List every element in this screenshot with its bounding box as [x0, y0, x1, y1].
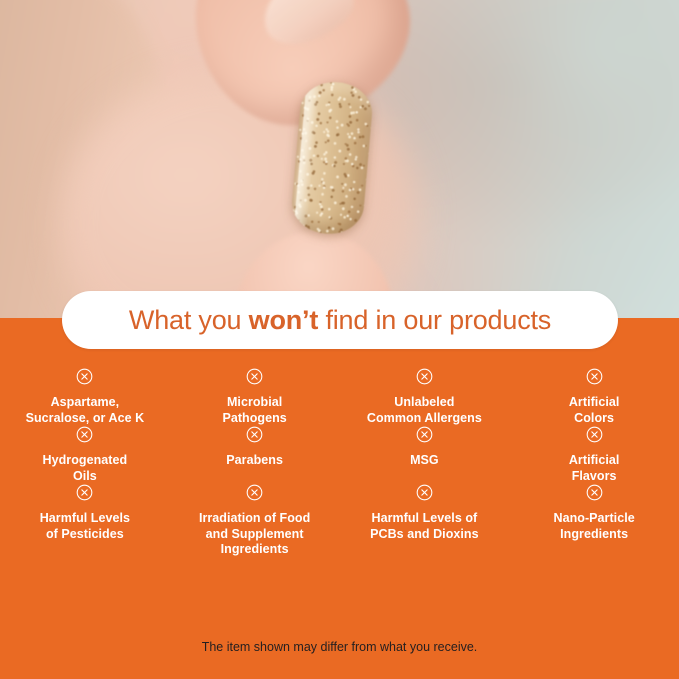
circle-x-icon — [416, 484, 433, 501]
grid-item-label: Harmful Levels of PCBs and Dioxins — [370, 511, 478, 542]
title-suffix: find in our products — [318, 305, 551, 335]
circle-x-icon — [246, 368, 263, 385]
circle-x-icon — [586, 426, 603, 443]
title-emphasis: won’t — [249, 305, 318, 335]
grid-item: Nano-Particle Ingredients — [509, 484, 679, 558]
circle-x-icon — [416, 426, 433, 443]
excluded-ingredients-grid: Aspartame, Sucralose, or Ace K Microbial… — [0, 368, 679, 558]
grid-item-label: Unlabeled Common Allergens — [367, 395, 482, 426]
circle-x-icon — [586, 484, 603, 501]
grid-item: Aspartame, Sucralose, or Ace K — [0, 368, 170, 426]
grid-item-label: Artificial Colors — [569, 395, 620, 426]
product-info-graphic: What you won’t find in our products Aspa… — [0, 0, 679, 679]
circle-x-icon — [586, 368, 603, 385]
grid-item-label: Aspartame, Sucralose, or Ace K — [26, 395, 145, 426]
grid-item: Harmful Levels of PCBs and Dioxins — [340, 484, 510, 558]
grid-item-label: Harmful Levels of Pesticides — [40, 511, 130, 542]
circle-x-icon — [416, 368, 433, 385]
grid-item: Unlabeled Common Allergens — [340, 368, 510, 426]
grid-item: Microbial Pathogens — [170, 368, 340, 426]
supplement-tablet — [290, 79, 375, 237]
grid-item-label: Nano-Particle Ingredients — [554, 511, 635, 542]
circle-x-icon — [246, 484, 263, 501]
grid-item: Harmful Levels of Pesticides — [0, 484, 170, 558]
grid-item-label: Parabens — [226, 453, 283, 469]
grid-item-label: Irradiation of Food and Supplement Ingre… — [199, 511, 310, 558]
grid-item: Artificial Colors — [509, 368, 679, 426]
circle-x-icon — [76, 368, 93, 385]
grid-item: MSG — [340, 426, 510, 484]
title-prefix: What you — [129, 305, 249, 335]
circle-x-icon — [76, 426, 93, 443]
page-title: What you won’t find in our products — [129, 305, 551, 336]
grid-item-label: MSG — [410, 453, 439, 469]
grid-item-label: Artificial Flavors — [569, 453, 620, 484]
grid-item: Artificial Flavors — [509, 426, 679, 484]
grid-item-label: Hydrogenated Oils — [43, 453, 128, 484]
product-photo — [0, 0, 679, 322]
grid-item: Irradiation of Food and Supplement Ingre… — [170, 484, 340, 558]
title-pill: What you won’t find in our products — [62, 291, 618, 349]
grid-item: Parabens — [170, 426, 340, 484]
grid-item: Hydrogenated Oils — [0, 426, 170, 484]
disclaimer-text: The item shown may differ from what you … — [202, 640, 478, 654]
grid-item-label: Microbial Pathogens — [222, 395, 286, 426]
circle-x-icon — [246, 426, 263, 443]
circle-x-icon — [76, 484, 93, 501]
footer: The item shown may differ from what you … — [0, 638, 679, 656]
